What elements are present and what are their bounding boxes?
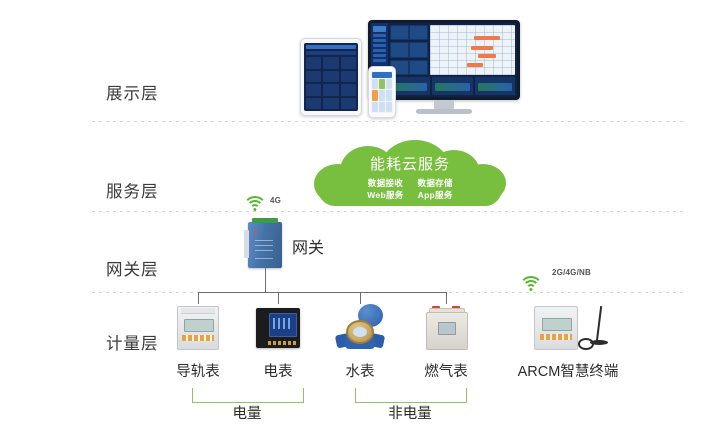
bracket-label-non-electricity: 非电量 xyxy=(355,402,465,423)
layer-label-gateway: 网关层 xyxy=(106,256,159,280)
bracket-label-electricity: 电量 xyxy=(192,402,302,423)
smartphone-device xyxy=(368,66,396,118)
dashboard-cards xyxy=(390,25,428,75)
connector-bus xyxy=(198,292,446,293)
architecture-diagram: 展示层 服务层 网关层 计量层 xyxy=(0,0,715,443)
arcm-smart-terminal: ARCM智慧终端 xyxy=(508,302,628,381)
dashboard-map-panel xyxy=(430,25,515,75)
antenna-icon xyxy=(584,306,614,352)
layer-label-service: 服务层 xyxy=(106,178,159,202)
gateway-network-tag: 4G xyxy=(270,196,281,205)
wifi-icon xyxy=(520,276,542,292)
cloud-services-right: 数据存储 App服务 xyxy=(418,178,453,201)
meter-label: 水表 xyxy=(317,360,403,381)
terminal-network-tag: 2G/4G/NB xyxy=(552,268,591,277)
meter-label: 导轨表 xyxy=(155,360,241,381)
monitor-stand-base xyxy=(416,109,472,114)
presentation-devices-group xyxy=(300,8,540,120)
bracket-non-electricity xyxy=(355,388,467,403)
gateway-label: 网关 xyxy=(292,234,324,258)
terminal-label: ARCM智慧终端 xyxy=(508,360,628,381)
meter-electricity: 电表 xyxy=(235,302,321,381)
meter-din-rail: 导轨表 xyxy=(155,302,241,381)
cloud-service-item: Web服务 xyxy=(367,190,403,201)
layer-label-presentation: 展示层 xyxy=(106,80,159,104)
cloud-service-item: App服务 xyxy=(418,190,453,201)
gateway-device xyxy=(248,222,282,268)
layer-label-metering: 计量层 xyxy=(106,330,159,354)
tablet-device xyxy=(300,38,362,116)
cloud-service-item: 数据存储 xyxy=(418,178,453,189)
cloud-service-node: 能耗云服务 数据接收 Web服务 数据存储 App服务 xyxy=(310,142,510,210)
connector-gateway-trunk xyxy=(265,268,266,292)
phone-screen xyxy=(371,71,393,113)
gas-meter-icon xyxy=(403,302,489,354)
meter-gas: 燃气表 xyxy=(403,302,489,381)
bracket-electricity xyxy=(192,388,304,403)
cloud-services-left: 数据接收 Web服务 xyxy=(367,178,403,201)
meter-label: 电表 xyxy=(235,360,321,381)
arcm-terminal-icon xyxy=(508,302,628,354)
wifi-icon xyxy=(244,196,266,212)
tablet-screen xyxy=(304,43,358,111)
cloud-title: 能耗云服务 xyxy=(310,153,510,174)
meter-label: 燃气表 xyxy=(403,360,489,381)
cloud-service-item: 数据接收 xyxy=(367,178,403,189)
water-meter-icon xyxy=(317,302,403,354)
panel-electricity-meter-icon xyxy=(235,302,321,354)
layer-divider-presentation xyxy=(92,121,687,122)
din-rail-meter-icon xyxy=(155,302,241,354)
layer-divider-service xyxy=(92,211,687,212)
meter-water: 水表 xyxy=(317,302,403,381)
dashboard-charts xyxy=(390,77,515,95)
